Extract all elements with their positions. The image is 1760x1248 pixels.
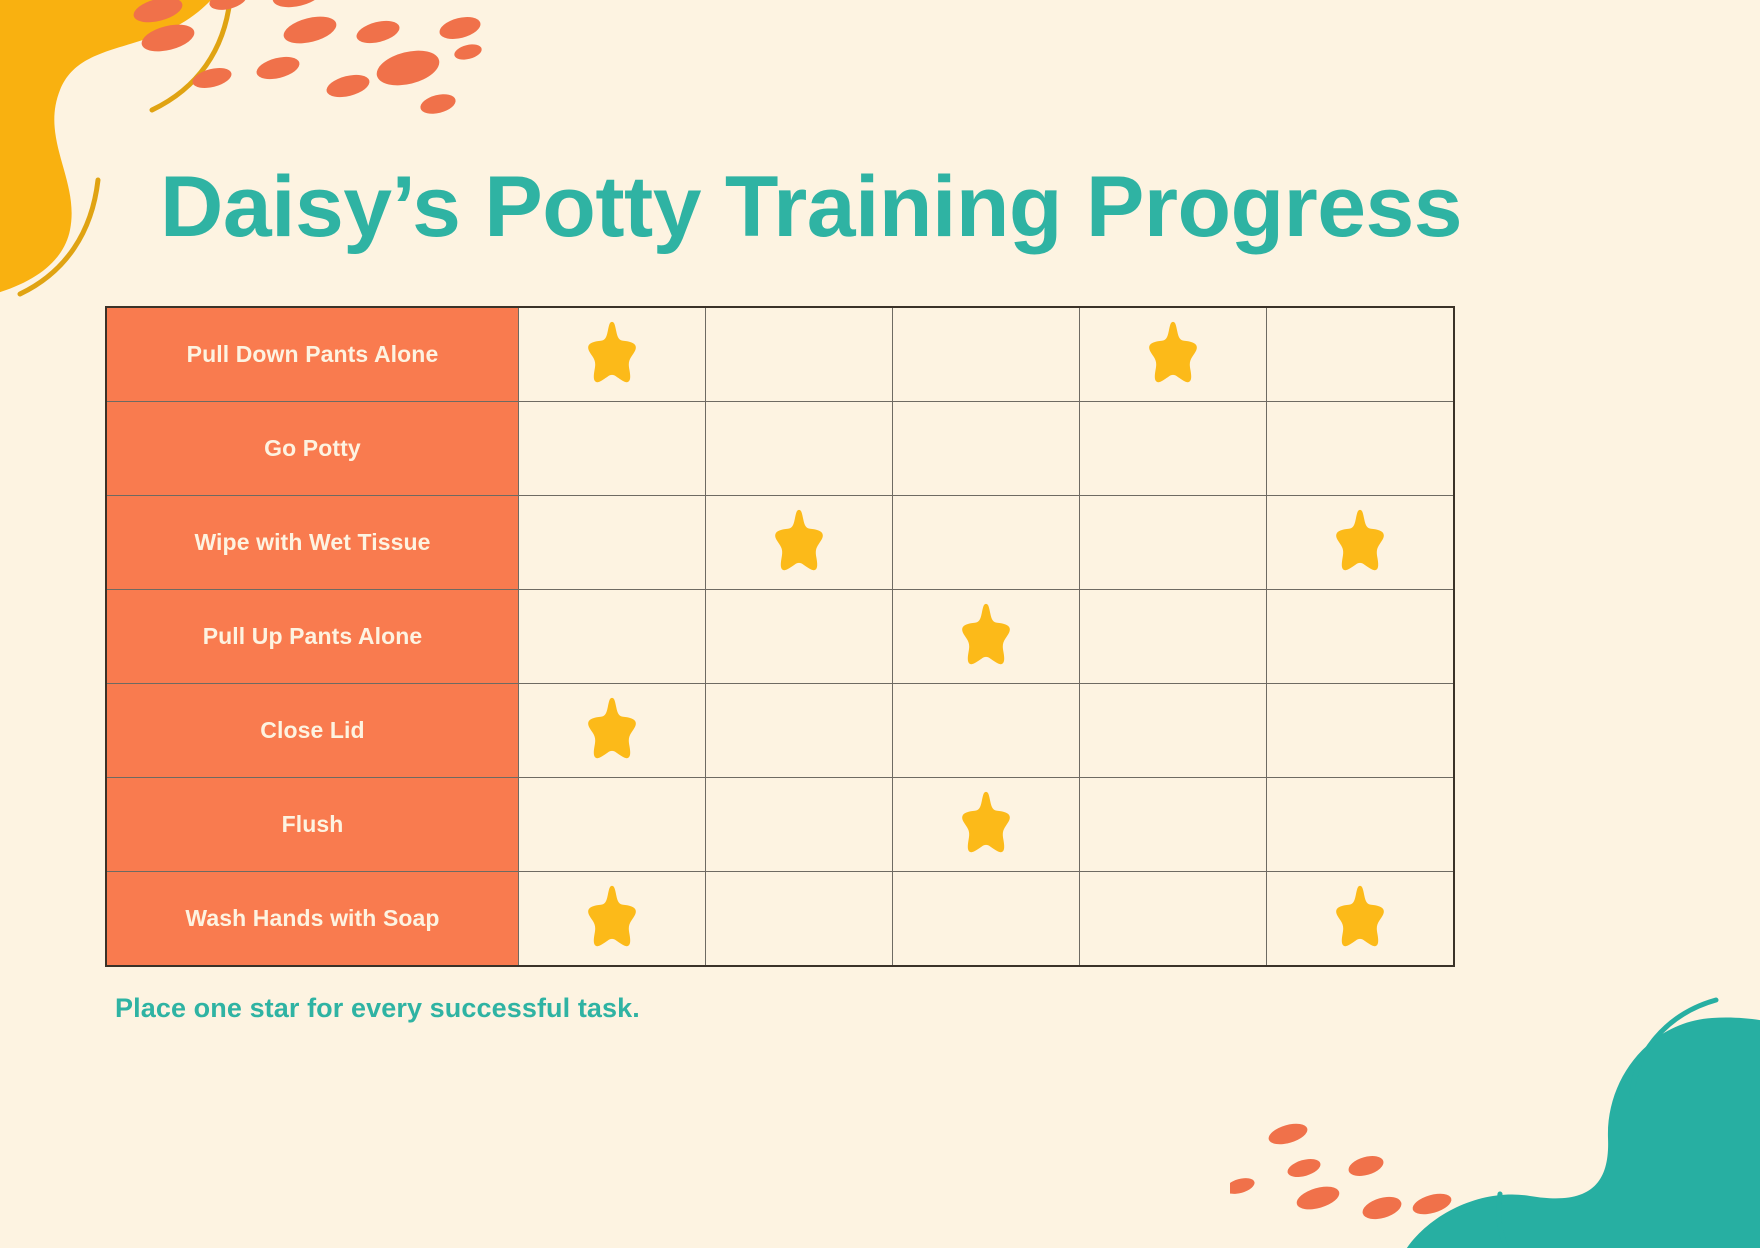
chart-body: Pull Down Pants AloneGo PottyWipe with W… (106, 307, 1454, 966)
star-slot-cell[interactable] (1080, 684, 1267, 778)
star-slot-cell[interactable] (1080, 590, 1267, 684)
task-label-cell: Wash Hands with Soap (106, 872, 519, 967)
teal-blob-decoration (1360, 988, 1760, 1248)
star-icon (577, 693, 647, 763)
star-slot-cell[interactable] (1267, 684, 1455, 778)
star-icon (951, 787, 1021, 857)
star-slot-cell[interactable] (706, 778, 893, 872)
poster-canvas: Daisy’s Potty Training Progress Pull Dow… (0, 0, 1760, 1248)
star-slot-cell[interactable] (1267, 872, 1455, 967)
star-slot-cell[interactable] (1267, 590, 1455, 684)
table-row: Wash Hands with Soap (106, 872, 1454, 967)
star-slot-cell[interactable] (893, 307, 1080, 402)
instruction-note: Place one star for every successful task… (115, 993, 640, 1024)
star-slot-cell[interactable] (893, 684, 1080, 778)
task-label-cell: Go Potty (106, 402, 519, 496)
star-icon (1138, 317, 1208, 387)
table-row: Go Potty (106, 402, 1454, 496)
yellow-blob-decoration (0, 0, 450, 300)
table-row: Pull Down Pants Alone (106, 307, 1454, 402)
star-slot-cell[interactable] (893, 872, 1080, 967)
star-icon (764, 505, 834, 575)
star-slot-cell[interactable] (519, 402, 706, 496)
star-slot-cell[interactable] (1080, 307, 1267, 402)
table-row: Pull Up Pants Alone (106, 590, 1454, 684)
star-slot-cell[interactable] (1080, 778, 1267, 872)
star-icon (577, 317, 647, 387)
star-slot-cell[interactable] (1080, 872, 1267, 967)
star-slot-cell[interactable] (1267, 778, 1455, 872)
progress-chart-table: Pull Down Pants AloneGo PottyWipe with W… (105, 306, 1455, 967)
star-slot-cell[interactable] (1080, 402, 1267, 496)
task-label-cell: Pull Down Pants Alone (106, 307, 519, 402)
star-slot-cell[interactable] (706, 590, 893, 684)
star-slot-cell[interactable] (1267, 307, 1455, 402)
star-slot-cell[interactable] (893, 496, 1080, 590)
star-slot-cell[interactable] (1080, 496, 1267, 590)
star-slot-cell[interactable] (519, 496, 706, 590)
page-title: Daisy’s Potty Training Progress (160, 162, 1639, 253)
star-icon (1325, 881, 1395, 951)
star-slot-cell[interactable] (893, 402, 1080, 496)
task-label-cell: Wipe with Wet Tissue (106, 496, 519, 590)
table-row: Wipe with Wet Tissue (106, 496, 1454, 590)
star-slot-cell[interactable] (706, 307, 893, 402)
star-slot-cell[interactable] (519, 307, 706, 402)
task-label-cell: Pull Up Pants Alone (106, 590, 519, 684)
star-slot-cell[interactable] (706, 402, 893, 496)
confetti-bottom-decoration (1230, 1108, 1530, 1238)
star-icon (1325, 505, 1395, 575)
table-row: Close Lid (106, 684, 1454, 778)
star-slot-cell[interactable] (519, 684, 706, 778)
star-slot-cell[interactable] (706, 684, 893, 778)
star-slot-cell[interactable] (893, 778, 1080, 872)
star-slot-cell[interactable] (706, 872, 893, 967)
star-slot-cell[interactable] (1267, 402, 1455, 496)
star-slot-cell[interactable] (519, 590, 706, 684)
table-row: Flush (106, 778, 1454, 872)
star-slot-cell[interactable] (706, 496, 893, 590)
star-slot-cell[interactable] (893, 590, 1080, 684)
task-label-cell: Close Lid (106, 684, 519, 778)
star-icon (577, 881, 647, 951)
star-slot-cell[interactable] (1267, 496, 1455, 590)
task-label-cell: Flush (106, 778, 519, 872)
confetti-top-decoration (120, 0, 560, 170)
star-slot-cell[interactable] (519, 872, 706, 967)
star-slot-cell[interactable] (519, 778, 706, 872)
star-icon (951, 599, 1021, 669)
